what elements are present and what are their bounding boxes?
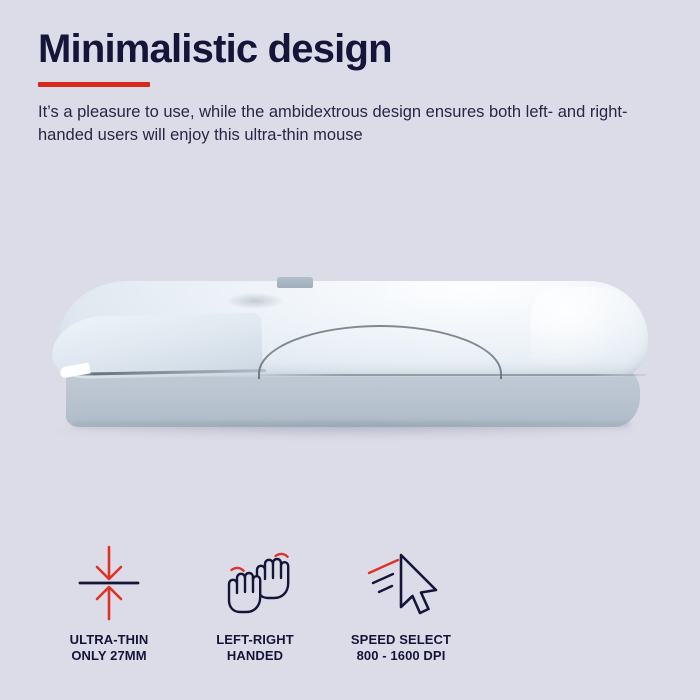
feature-item-left-right-handed: LEFT-RIGHT HANDED bbox=[182, 540, 328, 664]
mouse-body-seam bbox=[258, 374, 646, 376]
feature-label: SPEED SELECT 800 - 1600 DPI bbox=[328, 632, 474, 664]
product-feature-banner: Minimalistic design It’s a pleasure to u… bbox=[0, 0, 700, 700]
scroll-wheel bbox=[277, 276, 313, 288]
ultra-thin-arrows-icon bbox=[36, 540, 182, 626]
feature-label: ULTRA-THIN ONLY 27MM bbox=[36, 632, 182, 664]
feature-list: ULTRA-THIN ONLY 27MM LEFT-RIGHT HANDED bbox=[36, 540, 506, 664]
feature-item-speed-select: SPEED SELECT 800 - 1600 DPI bbox=[328, 540, 474, 664]
product-drop-shadow bbox=[52, 422, 634, 438]
subhead-text: It’s a pleasure to use, while the ambide… bbox=[38, 101, 663, 148]
page-title: Minimalistic design bbox=[38, 28, 668, 70]
product-image bbox=[0, 190, 700, 480]
left-right-hands-icon bbox=[182, 540, 328, 626]
cursor-speed-icon bbox=[328, 540, 474, 626]
feature-label: LEFT-RIGHT HANDED bbox=[182, 632, 328, 664]
header: Minimalistic design It’s a pleasure to u… bbox=[38, 28, 668, 148]
wireless-mouse bbox=[58, 275, 648, 425]
feature-item-ultra-thin: ULTRA-THIN ONLY 27MM bbox=[36, 540, 182, 664]
accent-underline bbox=[38, 82, 150, 87]
scroll-wheel-shadow bbox=[226, 293, 284, 309]
